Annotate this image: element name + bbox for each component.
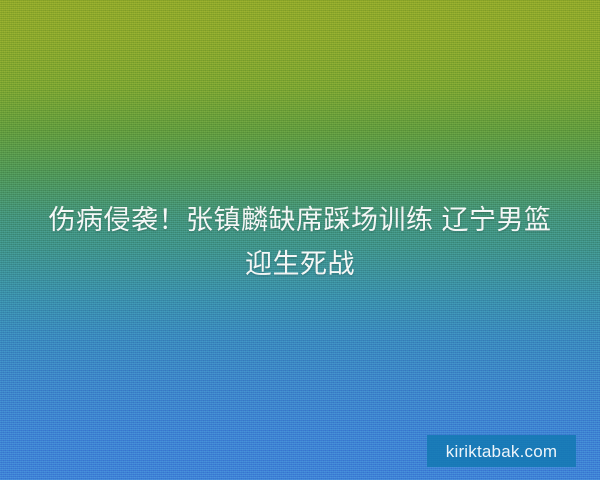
image-card: 伤病侵袭！张镇麟缺席踩场训练 辽宁男篮迎生死战 kiriktabak.com [0, 0, 600, 480]
watermark-label: kiriktabak.com [446, 443, 557, 460]
page-title: 伤病侵袭！张镇麟缺席踩场训练 辽宁男篮迎生死战 [36, 198, 564, 286]
watermark-badge: kiriktabak.com [427, 435, 576, 467]
